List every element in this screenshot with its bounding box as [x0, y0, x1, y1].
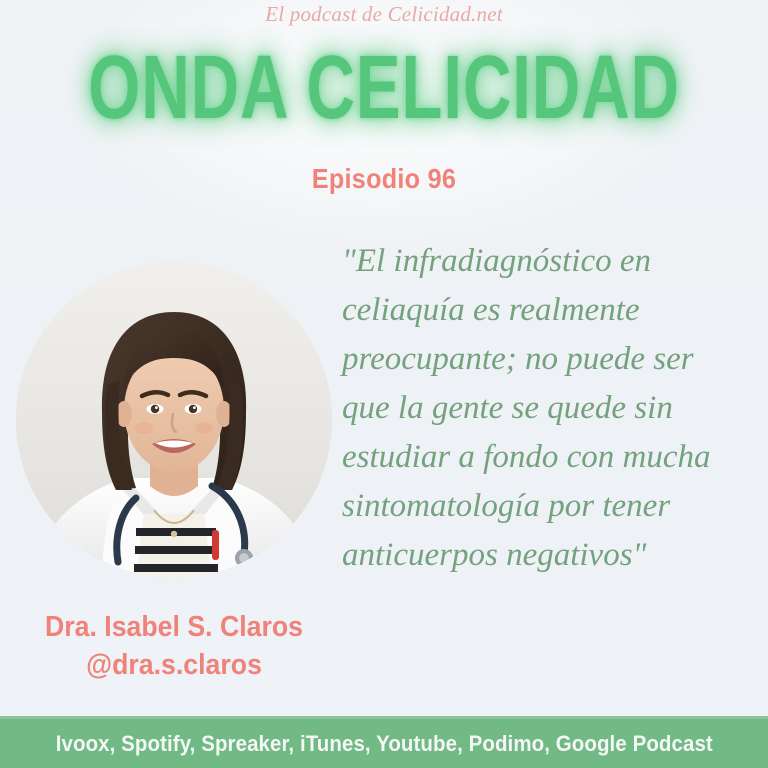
episode-quote: "El infradiagnóstico en celiaquía es rea… [342, 237, 724, 580]
guest-credit: Dra. Isabel S. Claros @dra.s.claros [14, 608, 334, 684]
podcast-tagline: El podcast de Celicidad.net [0, 2, 768, 27]
guest-handle: @dra.s.claros [14, 646, 334, 684]
episode-number: Episodio 96 [38, 163, 729, 195]
portrait-illustration [16, 262, 332, 578]
podcast-episode-poster: El podcast de Celicidad.net ONDA CELICID… [0, 0, 768, 768]
podcast-title: ONDA CELICIDAD [61, 39, 706, 138]
platforms-list: Ivoox, Spotify, Spreaker, iTunes, Youtub… [55, 731, 712, 757]
podcast-title-block: ONDA CELICIDAD ONDA CELICIDAD [0, 44, 768, 144]
platforms-footer-bar: Ivoox, Spotify, Spreaker, iTunes, Youtub… [0, 716, 768, 768]
guest-portrait-photo [16, 262, 332, 578]
guest-name: Dra. Isabel S. Claros [14, 608, 334, 646]
